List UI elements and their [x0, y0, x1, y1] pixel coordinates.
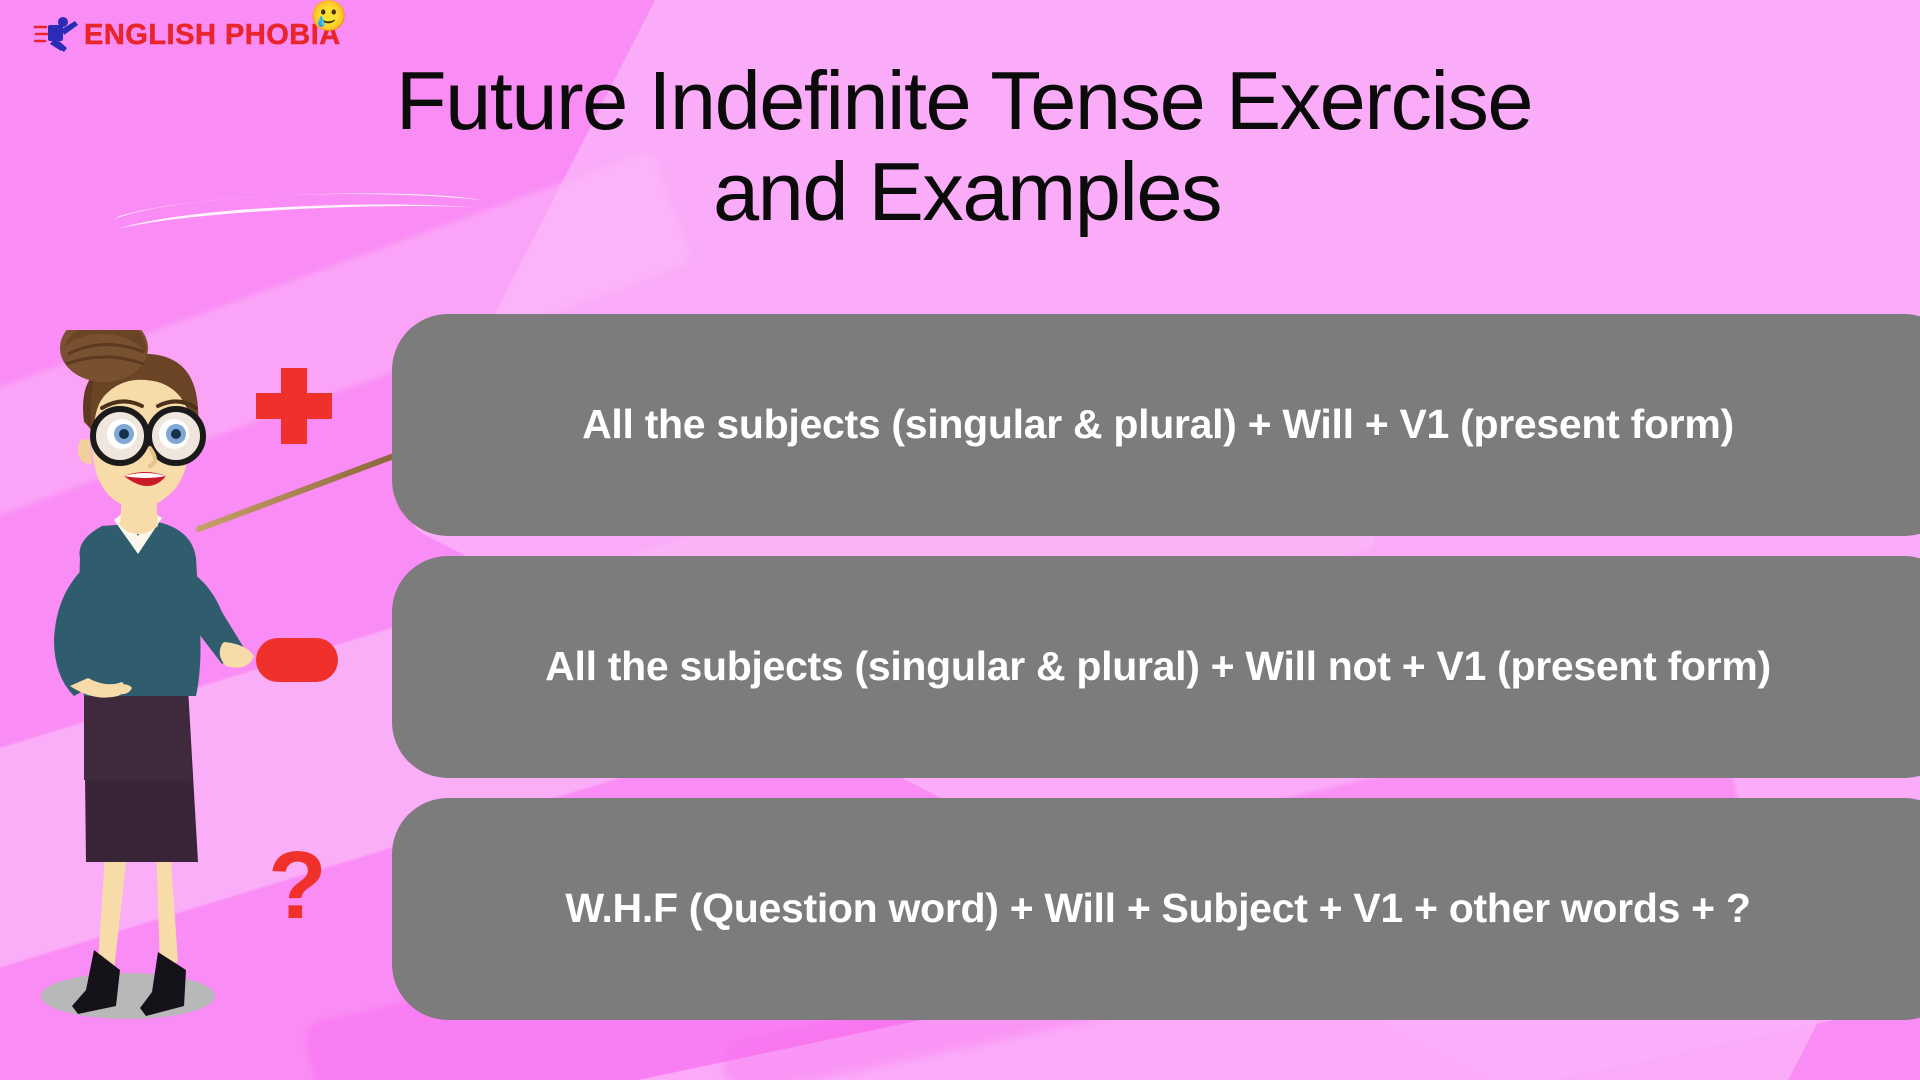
plus-symbol	[256, 368, 332, 444]
rule-text-affirmative: All the subjects (singular & plural) + W…	[458, 399, 1904, 451]
brand-logo: ENGLISH PHOBIA 🥲	[34, 8, 341, 62]
running-person-icon	[34, 15, 80, 55]
white-brush-underline	[110, 186, 485, 232]
rule-text-interrogative: W.H.F (Question word) + Will + Subject +…	[458, 883, 1904, 935]
question-symbol: ?	[268, 838, 327, 934]
rule-box-affirmative: All the subjects (singular & plural) + W…	[392, 314, 1920, 536]
rule-box-negative: All the subjects (singular & plural) + W…	[392, 556, 1920, 778]
rule-box-interrogative: W.H.F (Question word) + Will + Subject +…	[392, 798, 1920, 1020]
page-title-line-1: Future Indefinite Tense Exercise	[0, 60, 1920, 141]
minus-symbol	[256, 638, 338, 682]
rule-text-negative: All the subjects (singular & plural) + W…	[458, 641, 1904, 693]
plus-vertical-bar	[281, 368, 307, 444]
worried-face-emoji: 🥲	[310, 2, 347, 32]
brand-name: ENGLISH PHOBIA	[84, 21, 341, 50]
infographic-canvas: ENGLISH PHOBIA 🥲 Future Indefinite Tense…	[0, 0, 1920, 1080]
